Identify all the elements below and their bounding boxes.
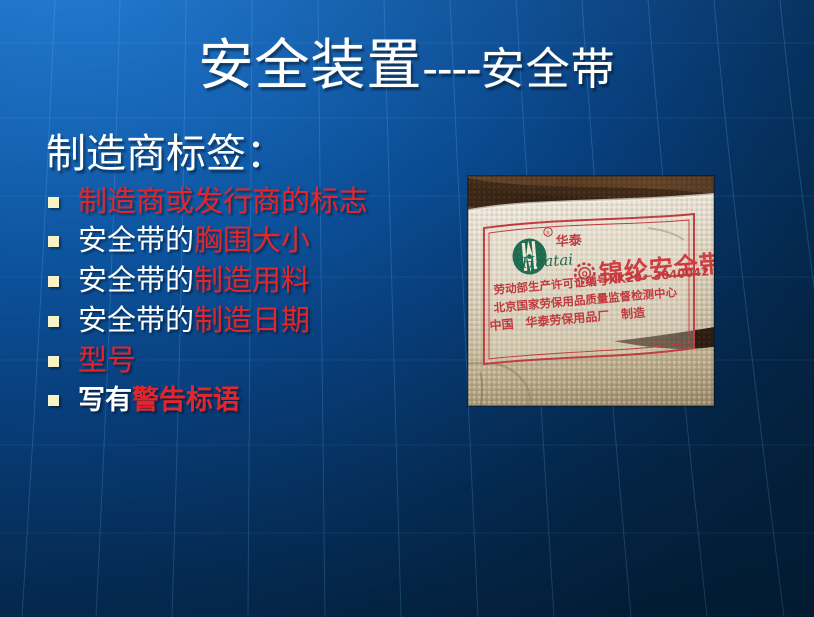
bullet-text-accent: 制造商或发行商的标志 — [78, 184, 368, 218]
bullet-marker-icon — [48, 356, 59, 367]
bullet-text-accent: 制造日期 — [194, 303, 310, 337]
list-item: 安全带的胸围大小 — [38, 222, 438, 260]
list-item: 安全带的制造日期 — [38, 302, 438, 340]
slide-title-main: 安全装置 — [198, 33, 422, 97]
bullet-marker-icon — [48, 236, 59, 247]
list-item: 安全带的制造用料 — [38, 262, 438, 300]
bullet-text-plain: 安全带的 — [78, 263, 194, 297]
list-item: 制造商或发行商的标志 — [38, 183, 438, 221]
slide-canvas: 安全装置----安全带 制造商标签： 制造商或发行商的标志 安全带的胸围大小 安… — [0, 0, 814, 617]
list-item: 写有警告标语 — [38, 381, 438, 419]
bullet-marker-icon — [48, 395, 59, 406]
bullet-text-accent: 警告标语 — [132, 385, 240, 416]
list-item: 型号 — [38, 342, 438, 380]
slide-title-sub: 安全带 — [481, 44, 616, 95]
content-column: 制造商标签： 制造商或发行商的标志 安全带的胸围大小 安全带的制造用料 安全带的… — [38, 132, 438, 421]
bullet-text-accent: 型号 — [78, 343, 136, 377]
bullet-marker-icon — [48, 316, 59, 327]
bullet-list: 制造商或发行商的标志 安全带的胸围大小 安全带的制造用料 安全带的制造日期 型号 — [38, 183, 438, 419]
bullet-marker-icon — [48, 197, 59, 208]
label-photo-illustration: R 华泰 Huatai Q 锦纶安全带 劳动部生产许可证编号XK20－30400… — [468, 176, 714, 406]
bullet-text-plain: 写有 — [78, 385, 132, 416]
bullet-text-plain: 安全带的 — [78, 303, 194, 337]
slide-title-dash: ---- — [422, 41, 480, 95]
bullet-text-accent: 胸围大小 — [194, 223, 310, 257]
section-heading: 制造商标签： — [46, 132, 438, 177]
slide-title: 安全装置----安全带 — [0, 38, 814, 93]
bullet-text-accent: 制造用料 — [194, 263, 310, 297]
bullet-marker-icon — [48, 276, 59, 287]
bullet-text-plain: 安全带的 — [78, 223, 194, 257]
safety-belt-label-photo: R 华泰 Huatai Q 锦纶安全带 劳动部生产许可证编号XK20－30400… — [468, 176, 714, 406]
